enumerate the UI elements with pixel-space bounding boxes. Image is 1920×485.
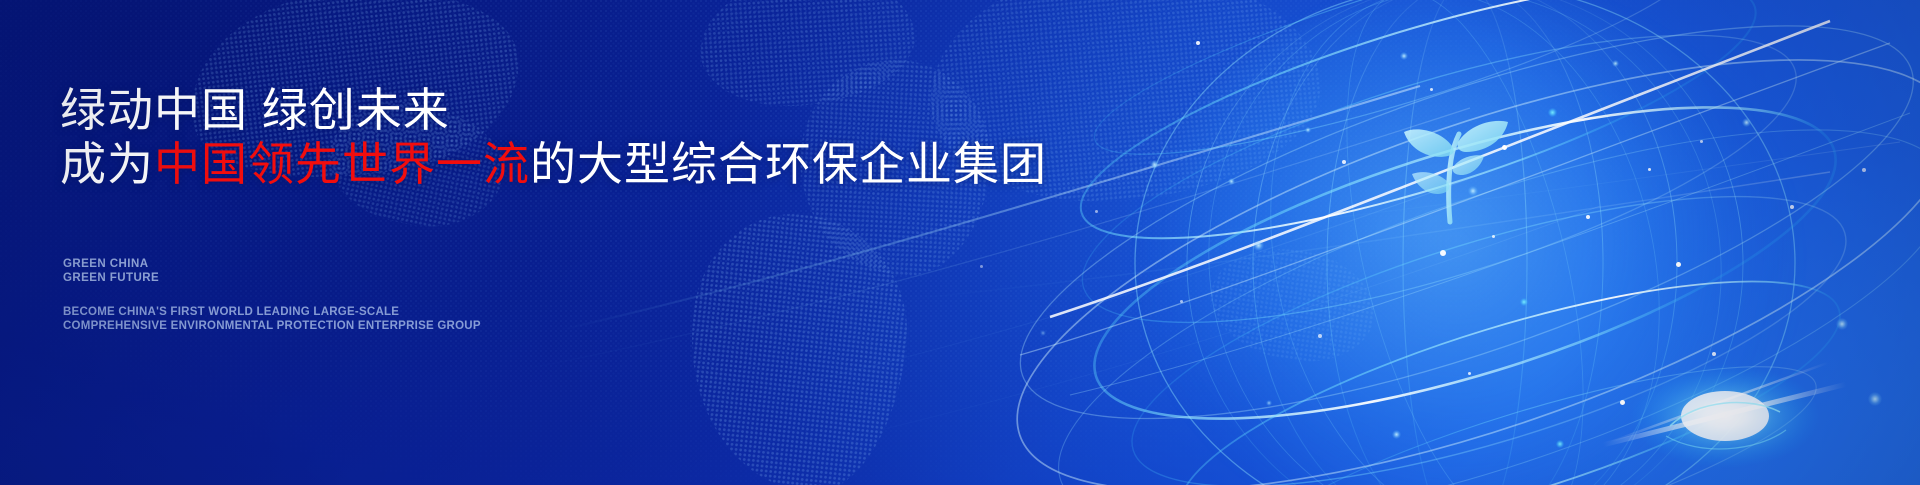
english-description: BECOME CHINA'S FIRST WORLD LEADING LARGE… (63, 306, 481, 333)
wireframe-globe-icon (1010, 0, 1920, 485)
headline-line-1: 绿动中国 绿创未来 (60, 82, 450, 138)
headline-highlight: 中国领先世界一流 (154, 138, 530, 190)
headline-prefix: 成为 (60, 138, 154, 190)
english-description-line-1: BECOME CHINA'S FIRST WORLD LEADING LARGE… (63, 306, 399, 318)
english-slogan: GREEN CHINA GREEN FUTURE (63, 258, 159, 285)
english-slogan-line-2: GREEN FUTURE (63, 272, 159, 286)
hero-banner: 绿动中国 绿创未来 成为中国领先世界一流的大型综合环保企业集团 GREEN CH… (0, 0, 1920, 485)
headline-suffix: 的大型综合环保企业集团 (530, 138, 1047, 190)
globe-glow (1140, 0, 1800, 485)
banner-copy: 绿动中国 绿创未来 成为中国领先世界一流的大型综合环保企业集团 GREEN CH… (60, 0, 1080, 485)
english-description-line-2: COMPREHENSIVE ENVIRONMENTAL PROTECTION E… (63, 320, 481, 334)
headline-line-2: 成为中国领先世界一流的大型综合环保企业集团 (60, 136, 1047, 192)
globe-wireframe-svg (1010, 0, 1920, 485)
landmass-australia (1203, 239, 1382, 371)
english-slogan-line-1: GREEN CHINA (63, 258, 148, 270)
light-burst-icon (1600, 330, 1850, 485)
sprout-leaf-icon (1398, 108, 1514, 226)
